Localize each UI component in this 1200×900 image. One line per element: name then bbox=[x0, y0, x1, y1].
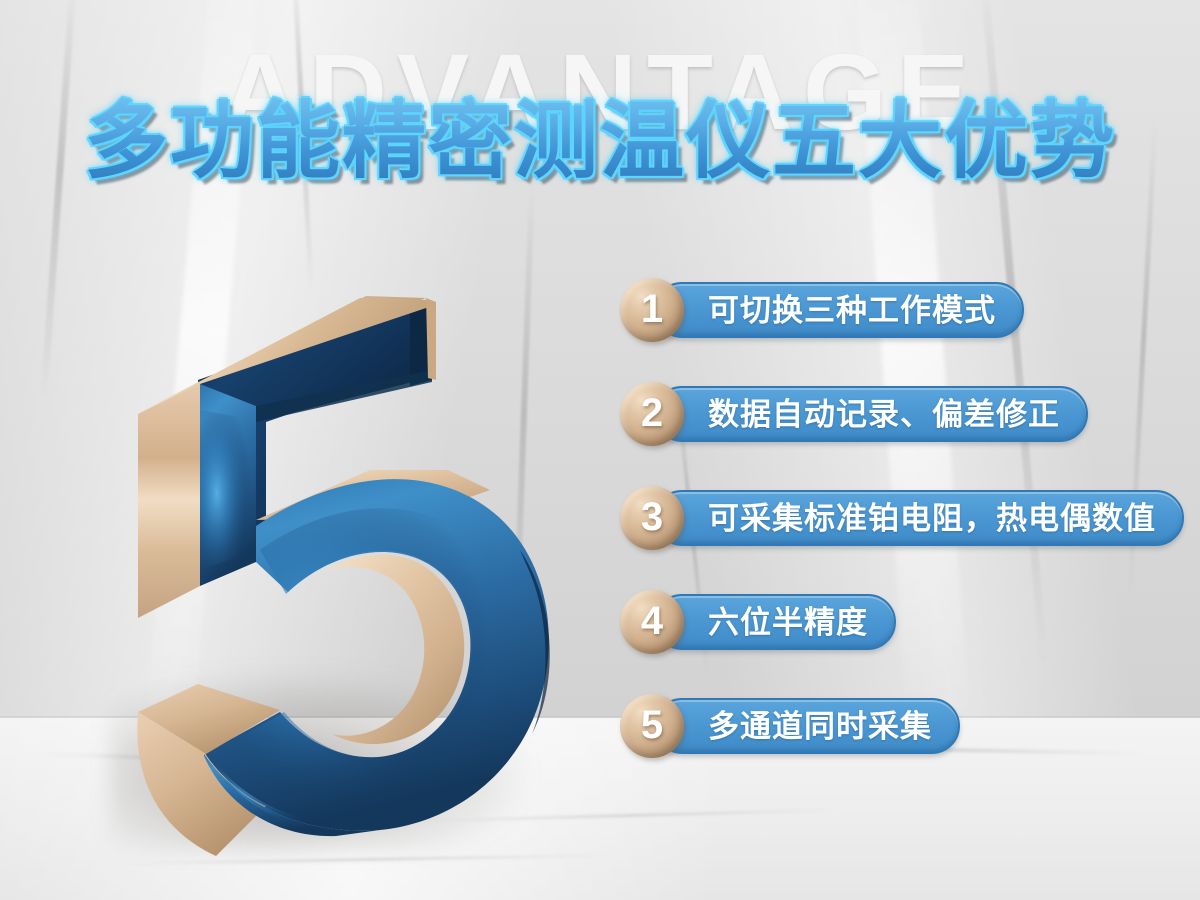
feature-label: 多通道同时采集 bbox=[708, 711, 932, 742]
infographic-canvas: ADVANTAGE 多功能精密测温仪五大优势 多功能精密测温仪五大优势 多功能精… bbox=[0, 0, 1200, 900]
feature-list: 可切换三种工作模式 1 数据自动记录、偏差修正 2 可采集标准铂电阻，热电偶数值… bbox=[620, 282, 1200, 756]
feature-pill[interactable]: 六位半精度 bbox=[654, 594, 896, 650]
feature-label: 六位半精度 bbox=[708, 607, 868, 638]
list-item[interactable]: 可采集标准铂电阻，热电偶数值 3 bbox=[620, 490, 1200, 548]
feature-label: 数据自动记录、偏差修正 bbox=[708, 399, 1060, 430]
feature-number-badge: 3 bbox=[620, 486, 684, 550]
feature-number: 3 bbox=[641, 497, 663, 537]
feature-pill[interactable]: 多通道同时采集 bbox=[654, 698, 960, 754]
feature-pill[interactable]: 数据自动记录、偏差修正 bbox=[654, 386, 1088, 442]
headline-text: 多功能精密测温仪五大优势 bbox=[84, 96, 1116, 187]
title-block: ADVANTAGE 多功能精密测温仪五大优势 多功能精密测温仪五大优势 多功能精… bbox=[0, 0, 1200, 230]
list-item[interactable]: 多通道同时采集 5 bbox=[620, 698, 1200, 756]
feature-number: 5 bbox=[641, 705, 663, 745]
list-item[interactable]: 六位半精度 4 bbox=[620, 594, 1200, 652]
feature-pill[interactable]: 可采集标准铂电阻，热电偶数值 bbox=[654, 490, 1184, 546]
numeral-5-3d-graphic bbox=[80, 250, 600, 870]
hero-numeral-5 bbox=[80, 250, 600, 870]
feature-label: 可采集标准铂电阻，热电偶数值 bbox=[708, 503, 1156, 534]
feature-pill[interactable]: 可切换三种工作模式 bbox=[654, 282, 1024, 338]
feature-number: 4 bbox=[641, 601, 663, 641]
feature-number: 1 bbox=[641, 289, 663, 329]
feature-label: 可切换三种工作模式 bbox=[708, 295, 996, 326]
feature-number-badge: 5 bbox=[620, 694, 684, 758]
list-item[interactable]: 数据自动记录、偏差修正 2 bbox=[620, 386, 1200, 444]
feature-number-badge: 4 bbox=[620, 590, 684, 654]
feature-number-badge: 2 bbox=[620, 382, 684, 446]
feature-number-badge: 1 bbox=[620, 278, 684, 342]
feature-number: 2 bbox=[641, 393, 663, 433]
list-item[interactable]: 可切换三种工作模式 1 bbox=[620, 282, 1200, 340]
page-title: 多功能精密测温仪五大优势 多功能精密测温仪五大优势 多功能精密测温仪五大优势 bbox=[0, 96, 1200, 187]
